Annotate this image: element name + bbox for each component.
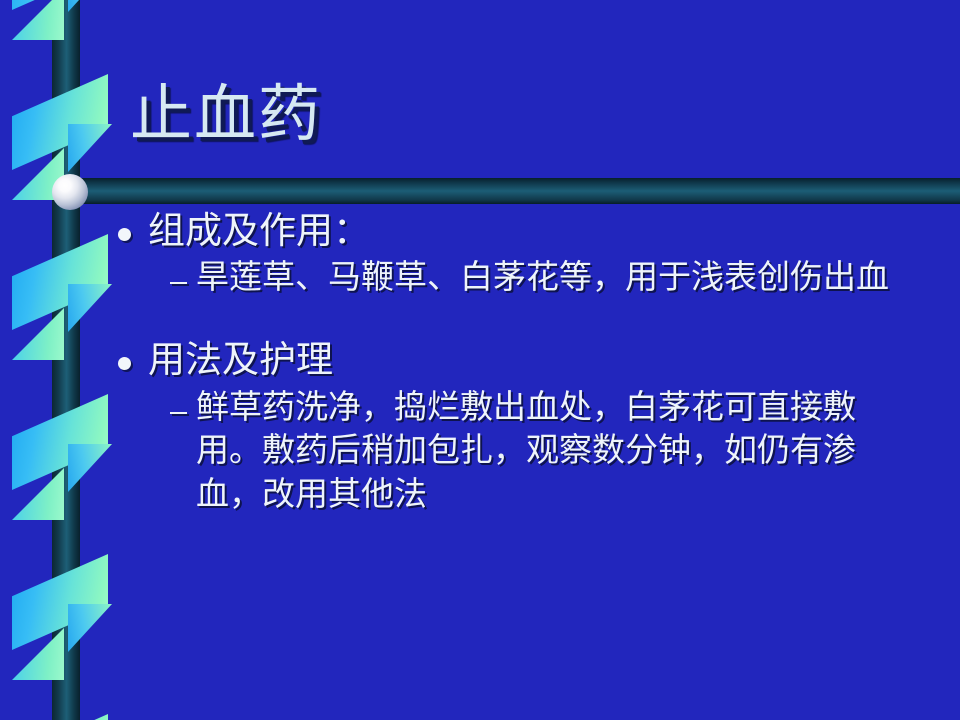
ribbon-wedge-right-icon [68, 0, 112, 12]
ribbon-wedge-right-icon [68, 604, 112, 652]
bullet-dot-icon [118, 228, 131, 241]
glowing-sphere-icon [52, 174, 88, 210]
ribbon-helix-group [0, 0, 120, 720]
ribbon-band [12, 714, 108, 720]
bullet-item-level2: 旱莲草、马鞭草、白茅花等，用于浅表创伤出血 [170, 257, 946, 301]
section-detail: 鲜草药洗净，捣烂敷出血处，白茅花可直接敷用。敷药后稍加包扎，观察数分钟，如仍有渗… [196, 387, 906, 519]
helix-ribbon-decoration [0, 0, 120, 720]
horizontal-divider-bar [66, 178, 960, 204]
presentation-slide: 止血药 组成及作用： 旱莲草、马鞭草、白茅花等，用于浅表创伤出血 用法及护理 鲜… [0, 0, 960, 720]
slide-body: 组成及作用： 旱莲草、马鞭草、白茅花等，用于浅表创伤出血 用法及护理 鲜草药洗净… [108, 208, 946, 528]
bullet-item-level2: 鲜草药洗净，捣烂敷出血处，白茅花可直接敷用。敷药后稍加包扎，观察数分钟，如仍有渗… [170, 387, 946, 519]
ribbon-segment [0, 554, 120, 714]
bullet-item-level1: 用法及护理 [108, 337, 946, 384]
section-heading: 组成及作用： [148, 208, 370, 255]
section-spacer [108, 311, 946, 337]
ribbon-segment [0, 0, 120, 74]
ribbon-wedge-right-icon [68, 444, 112, 492]
ribbon-segment [0, 394, 120, 554]
bullet-dash-icon [170, 282, 187, 284]
section-heading: 用法及护理 [148, 337, 333, 384]
bullet-dot-icon [118, 357, 131, 370]
ribbon-wedge-right-icon [68, 284, 112, 332]
ribbon-segment [0, 714, 120, 720]
bullet-dash-icon [170, 412, 187, 414]
ribbon-wedge-right-icon [68, 124, 112, 172]
bullet-item-level1: 组成及作用： [108, 208, 946, 255]
slide-title: 止血药 [130, 84, 322, 146]
ribbon-segment [0, 234, 120, 394]
ribbon-segment [0, 74, 120, 234]
section-detail: 旱莲草、马鞭草、白茅花等，用于浅表创伤出血 [196, 257, 889, 301]
